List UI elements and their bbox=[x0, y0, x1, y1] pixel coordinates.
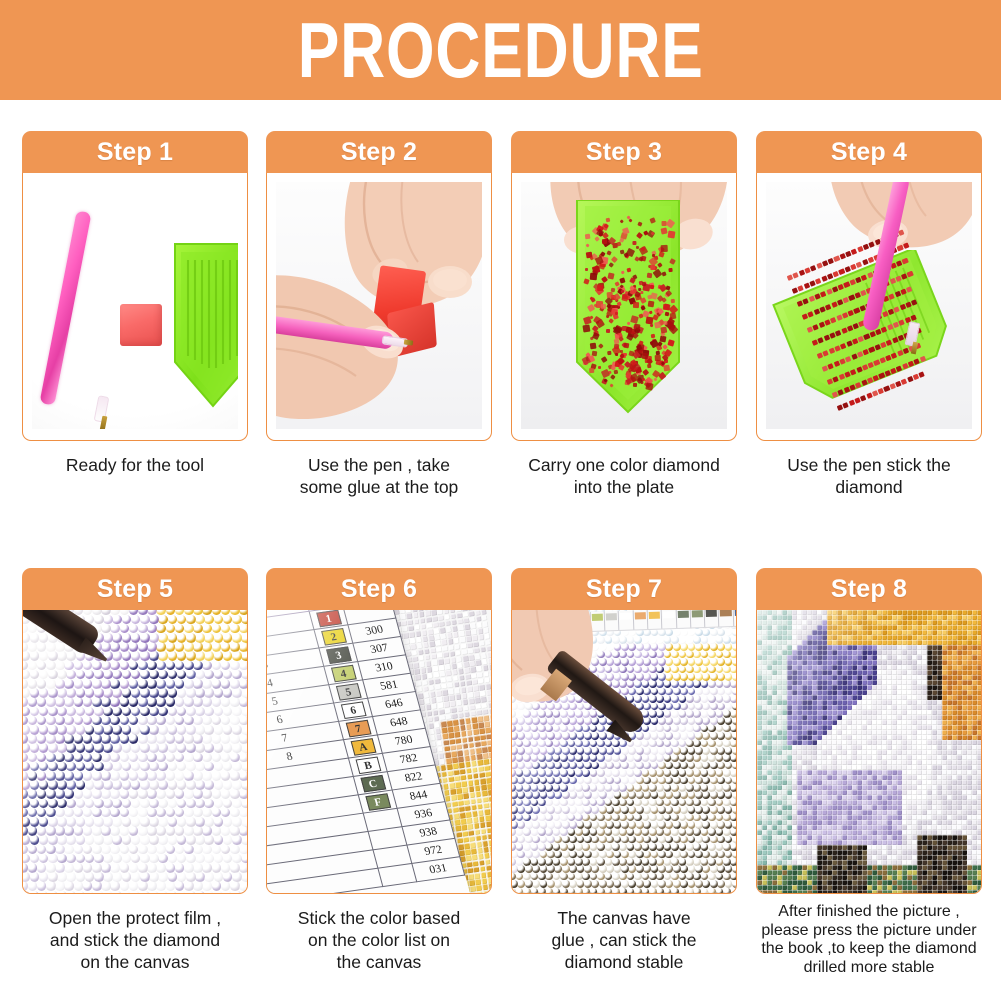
step-7-caption: The canvas have glue , can stick the dia… bbox=[511, 907, 737, 973]
step-2-label: Step 2 bbox=[341, 138, 417, 167]
color-chart-photo: Seq Symbol DMC 1122300333074431055581666… bbox=[267, 610, 491, 893]
step-card-6[interactable]: Step 6 Seq Symbol DMC bbox=[266, 568, 492, 973]
legend-cell bbox=[719, 610, 734, 627]
step-card-5[interactable]: Step 5 Open the protect film , and stick… bbox=[22, 568, 248, 973]
step-3-header: Step 3 bbox=[511, 131, 737, 173]
step-4-label: Step 4 bbox=[831, 138, 907, 167]
step-3-image-frame bbox=[511, 173, 737, 441]
step-5-caption: Open the protect film , and stick the di… bbox=[22, 907, 248, 973]
legend-cell bbox=[676, 610, 691, 628]
hand-lower bbox=[276, 268, 446, 429]
cell-symbol bbox=[378, 863, 417, 886]
step-card-4[interactable]: Step 4 bbox=[756, 131, 982, 498]
canvas-closeup-photo bbox=[23, 610, 247, 893]
legend-cell bbox=[662, 610, 677, 628]
step-6-caption: Stick the color based on the color list … bbox=[266, 907, 492, 973]
page-header: PROCEDURE bbox=[0, 0, 1001, 100]
step-card-7[interactable]: Step 7 bbox=[511, 568, 737, 973]
step-8-image-frame bbox=[756, 610, 982, 894]
step-6-label: Step 6 bbox=[341, 575, 417, 604]
step-1-caption: Ready for the tool bbox=[22, 454, 248, 476]
green-diamond-tray bbox=[172, 240, 238, 410]
step-7-header: Step 7 bbox=[511, 568, 737, 610]
step-4-caption: Use the pen stick the diamond bbox=[756, 454, 982, 498]
step-7-label: Step 7 bbox=[586, 575, 662, 604]
legend-cell bbox=[633, 610, 648, 629]
legend-cell bbox=[648, 610, 663, 629]
diamonds-in-tray-photo bbox=[521, 182, 727, 429]
step-6-header: Step 6 bbox=[266, 568, 492, 610]
step-8-header: Step 8 bbox=[756, 568, 982, 610]
page-title: PROCEDURE bbox=[298, 11, 704, 89]
step-card-2[interactable]: Step 2 bbox=[266, 131, 492, 498]
step-8-caption: After finished the picture , please pres… bbox=[744, 903, 994, 977]
step-4-image-frame bbox=[756, 173, 982, 441]
pink-wax-square bbox=[120, 304, 162, 346]
red-diamonds bbox=[573, 200, 683, 416]
step-2-image-frame bbox=[266, 173, 492, 441]
step-1-header: Step 1 bbox=[22, 131, 248, 173]
step-card-8[interactable]: Step 8 After finished the picture , plea… bbox=[756, 568, 982, 977]
pen-in-wax-photo bbox=[276, 182, 482, 429]
legend-cell bbox=[690, 610, 705, 628]
finished-mosaic bbox=[757, 610, 981, 893]
pen-nib bbox=[404, 339, 414, 345]
step-5-header: Step 5 bbox=[22, 568, 248, 610]
legend-cell bbox=[733, 610, 736, 626]
step-7-image-frame bbox=[511, 610, 737, 894]
step-2-header: Step 2 bbox=[266, 131, 492, 173]
step-8-label: Step 8 bbox=[831, 575, 907, 604]
step-card-3[interactable]: Step 3 bbox=[511, 131, 737, 498]
step-3-caption: Carry one color diamond into the plate bbox=[511, 454, 737, 498]
step-1-image-frame bbox=[22, 173, 248, 441]
step-5-label: Step 5 bbox=[97, 575, 173, 604]
step-card-1[interactable]: Step 1 bbox=[22, 131, 248, 476]
step-1-label: Step 1 bbox=[97, 138, 173, 167]
legend-cell bbox=[705, 610, 720, 627]
pen-picks-diamond-photo bbox=[766, 182, 972, 429]
step-4-header: Step 4 bbox=[756, 131, 982, 173]
procedure-infographic: PROCEDURE Step 1 bbox=[0, 0, 1001, 1001]
tool-kit-photo bbox=[32, 182, 238, 429]
step-5-image-frame bbox=[22, 610, 248, 894]
finished-picture-photo bbox=[757, 610, 981, 893]
sticking-diamond-photo bbox=[512, 610, 736, 893]
steps-row-top: Step 1 bbox=[0, 131, 1001, 531]
step-2-caption: Use the pen , take some glue at the top bbox=[266, 454, 492, 498]
step-3-label: Step 3 bbox=[586, 138, 662, 167]
steps-row-bottom: Step 5 Open the protect film , and stick… bbox=[0, 568, 1001, 988]
step-6-image-frame: Seq Symbol DMC 1122300333074431055581666… bbox=[266, 610, 492, 894]
round-drills bbox=[23, 610, 247, 893]
